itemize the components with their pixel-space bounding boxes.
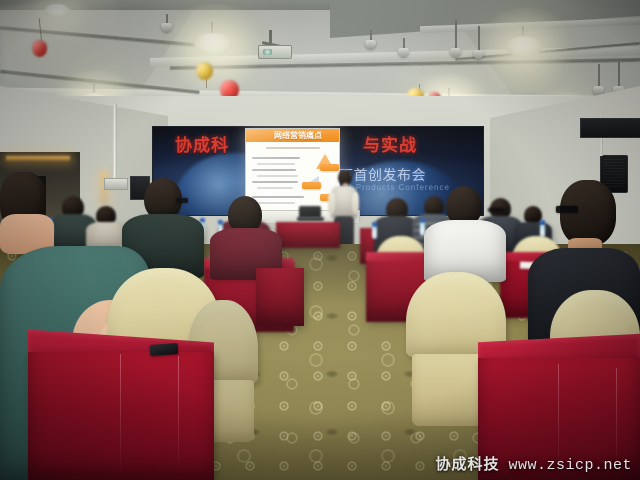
ceiling-dome-light-1 [194, 33, 232, 55]
wall-box-left [104, 178, 128, 190]
banner-subtitle-cn: 下首创发布会 [339, 165, 426, 185]
banner-subtitle-en: Hi Products Conference [343, 183, 450, 192]
bottle-cap [218, 220, 223, 224]
glasses-icon [488, 208, 504, 212]
slide-text-line [252, 169, 296, 171]
slide-header-bar: 网络营销痛点 [246, 129, 339, 142]
slide-text-line [252, 157, 300, 159]
spotlight-arm-6 [598, 64, 600, 88]
projection-screen: 网络营销痛点 [245, 128, 340, 212]
mobile-phone [150, 343, 179, 356]
bottle-cap [540, 220, 545, 224]
wall-pipe-left [113, 104, 117, 182]
table-fold [616, 368, 617, 480]
slide-body [246, 142, 339, 211]
slide-text-line [257, 163, 295, 165]
glasses-icon [176, 198, 188, 203]
ceiling-projector [258, 45, 292, 59]
slide-text-line [252, 181, 298, 183]
spotlight-arm-7 [618, 62, 620, 88]
table-fold [120, 354, 121, 478]
banner-title-right: 与实战 [363, 131, 417, 156]
banner-title-left: 协成科 [175, 131, 229, 156]
presenter-laptop-base [297, 217, 324, 221]
slide-callout [320, 164, 339, 171]
bottle-cap [372, 222, 377, 226]
presenter-arm-left [328, 192, 335, 214]
bottle-cap [420, 218, 425, 222]
table-fold [178, 356, 179, 476]
slide-subtitle-line [266, 147, 320, 149]
bottle-cap [200, 218, 205, 222]
foreground-head-right [560, 180, 616, 246]
spotlight-arm-4 [455, 20, 457, 50]
ceiling-dome-light-6 [44, 4, 70, 18]
table-fold [558, 364, 559, 480]
slide-text-line [252, 196, 304, 198]
amber-light-strip [6, 156, 70, 161]
spotlight-arm-5 [478, 26, 480, 52]
slide-text-line [257, 175, 298, 177]
water-bottle [372, 226, 377, 239]
balloon-yellow-1 [196, 62, 213, 80]
conference-photo: 协成科 与实战 下首创发布会 Hi Products Conference 网络… [0, 0, 640, 480]
glasses-icon [556, 206, 578, 213]
slide-callout [302, 182, 321, 189]
ceiling-dome-light-2 [506, 36, 542, 57]
ac-vent-right [580, 118, 640, 138]
table-mid-small [256, 268, 304, 326]
presenter-arm-right [352, 192, 359, 214]
projector-lens [263, 49, 272, 55]
speaker-grill [603, 159, 625, 189]
balloon-red-1 [32, 40, 47, 57]
table-back-center [276, 222, 340, 248]
slide-text-line [257, 187, 293, 189]
slide-header-text: 网络营销痛点 [274, 130, 322, 141]
table-foreground-left [28, 352, 214, 480]
